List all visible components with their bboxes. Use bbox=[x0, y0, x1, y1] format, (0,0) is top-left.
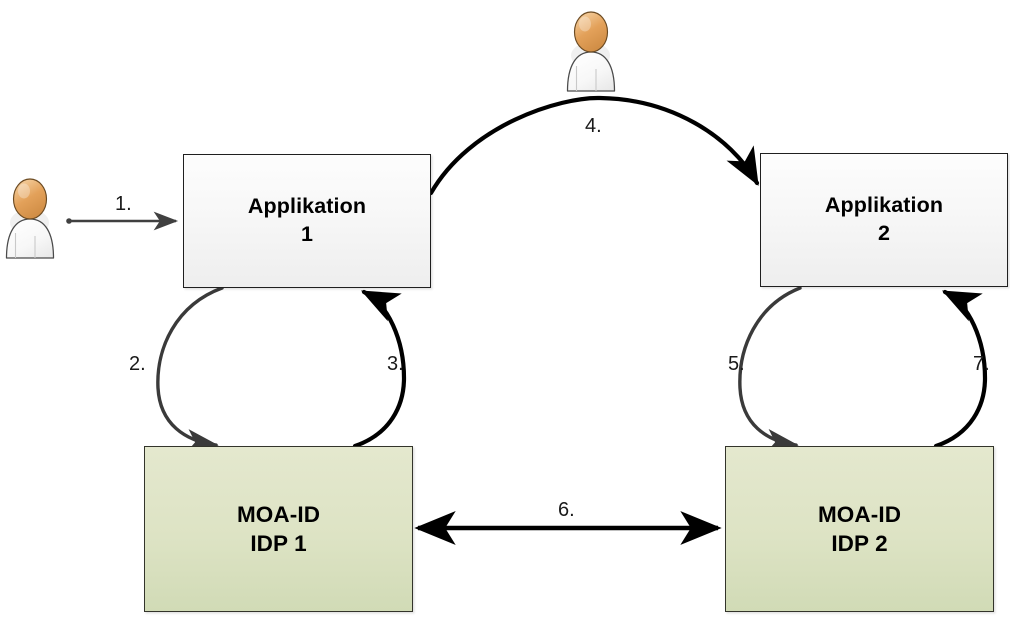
node-moa-id-idp-1-line1: MOA-ID bbox=[237, 500, 320, 529]
node-moa-id-idp-2[interactable]: MOA-ID IDP 2 bbox=[725, 446, 994, 612]
diagram-canvas: Applikation 1 Applikation 2 MOA-ID IDP 1… bbox=[0, 0, 1010, 618]
node-moa-id-idp-1-line2: IDP 1 bbox=[250, 529, 306, 558]
edge-label-6: 6. bbox=[558, 500, 575, 520]
node-applikation-2[interactable]: Applikation 2 bbox=[760, 153, 1008, 287]
node-moa-id-idp-2-line2: IDP 2 bbox=[831, 529, 887, 558]
edge-5-app2-to-idp2 bbox=[740, 288, 800, 445]
edge-label-5: 5. bbox=[728, 354, 745, 374]
user-icon-left bbox=[2, 170, 58, 262]
edge-2-app1-to-idp1 bbox=[158, 288, 222, 445]
node-applikation-2-line1: Applikation bbox=[825, 192, 943, 220]
node-applikation-1-line1: Applikation bbox=[248, 193, 366, 221]
edge-label-7: 7. bbox=[973, 354, 990, 374]
edge-label-4: 4. bbox=[585, 116, 602, 136]
node-applikation-1-line2: 1 bbox=[301, 221, 313, 249]
node-moa-id-idp-2-line1: MOA-ID bbox=[818, 500, 901, 529]
edge-1-user-to-app1 bbox=[66, 218, 176, 224]
edge-label-2: 2. bbox=[129, 354, 146, 374]
edge-label-3: 3. bbox=[387, 354, 404, 374]
edge-4-app1-to-app2 bbox=[431, 98, 757, 193]
user-icon-top bbox=[563, 3, 619, 95]
node-applikation-2-line2: 2 bbox=[878, 220, 890, 248]
node-moa-id-idp-1[interactable]: MOA-ID IDP 1 bbox=[144, 446, 413, 612]
edge-label-1: 1. bbox=[115, 194, 132, 214]
node-applikation-1[interactable]: Applikation 1 bbox=[183, 154, 431, 288]
